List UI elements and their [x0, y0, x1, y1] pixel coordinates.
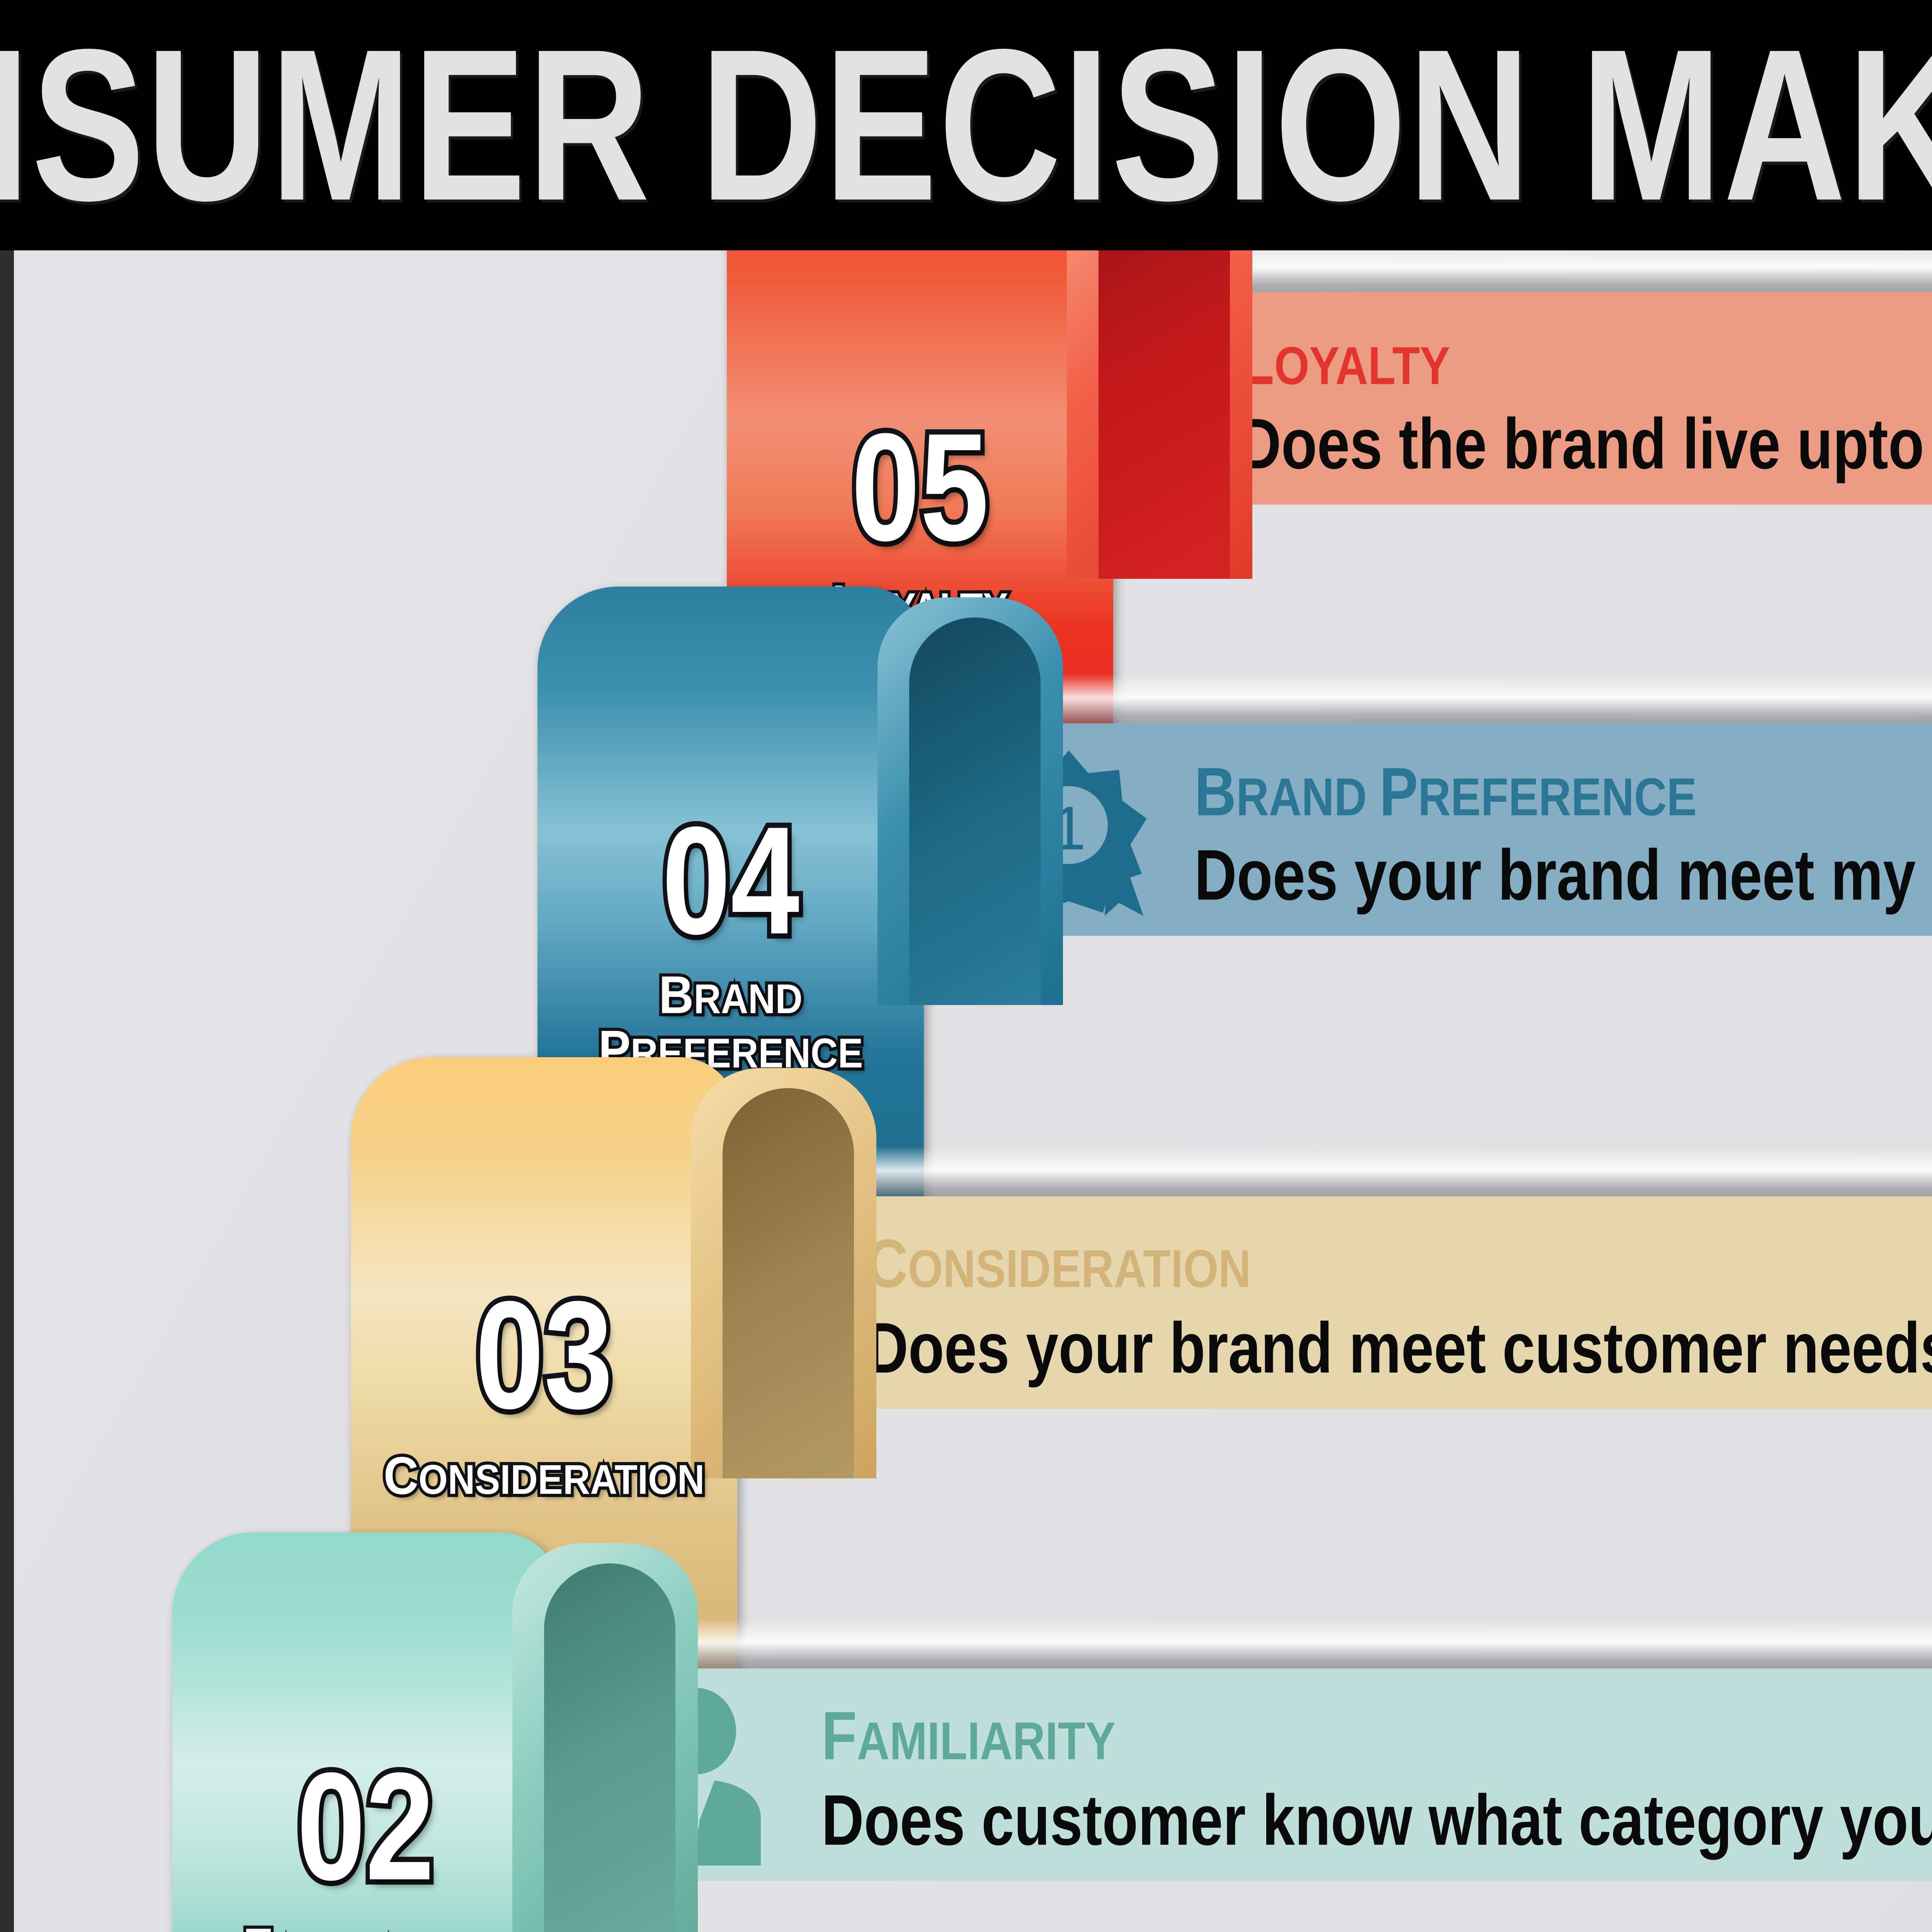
tab-label-consideration: CONSIDERATION	[351, 1449, 737, 1503]
tab-number-consideration: 03	[351, 1278, 737, 1432]
banner-familiarity[interactable]: FAMILIARITY Does customer know what cate…	[528, 1668, 1932, 1881]
banner-description-consideration: Does your brand meet customer needs?	[866, 1312, 1932, 1384]
banner-consideration[interactable]: CONSIDERATION Does your brand meet custo…	[700, 1196, 1932, 1409]
tab-fold-inner	[1099, 250, 1230, 579]
banner-title-loyalty: LOYALTY	[1239, 326, 1450, 395]
step-tab-familiarity[interactable]: 02 FAMILIARITY	[172, 1532, 698, 1932]
tab-fold-inner	[909, 617, 1041, 1005]
step-shadow-strip	[700, 1146, 1932, 1204]
banner-description-brand-preference: Does your brand meet my needs better tha…	[1194, 839, 1932, 911]
banner-title-familiarity: FAMILIARITY	[821, 1701, 1116, 1770]
handshake-icon	[1925, 1204, 1932, 1397]
step-shadow-strip	[528, 1618, 1932, 1676]
page-title: CONSUMER DECISION MAKING PROCESS	[0, 17, 1932, 233]
tab-number-brand-preference: 04	[537, 804, 924, 957]
tab-number-familiarity: 02	[172, 1750, 559, 1903]
banner-description-loyalty: Does the brand live upto its brand promi…	[1239, 408, 1932, 480]
banner-description-familiarity: Does customer know what category your br…	[821, 1784, 1932, 1856]
tab-fold-inner	[544, 1563, 675, 1932]
banner-title-consideration: CONSIDERATION	[866, 1229, 1251, 1298]
tab-number-loyalty: 05	[727, 410, 1113, 564]
tab-label-familiarity: FAMILIARITY	[172, 1920, 559, 1932]
infographic-canvas: LOYALTY Does the brand live upto its bra…	[14, 250, 1932, 1932]
tab-fold-inner	[723, 1088, 854, 1478]
header-bar: CONSUMER DECISION MAKING PROCESS	[0, 0, 1932, 250]
banner-title-brand-preference: BRAND PREFERENCE	[1194, 757, 1697, 826]
